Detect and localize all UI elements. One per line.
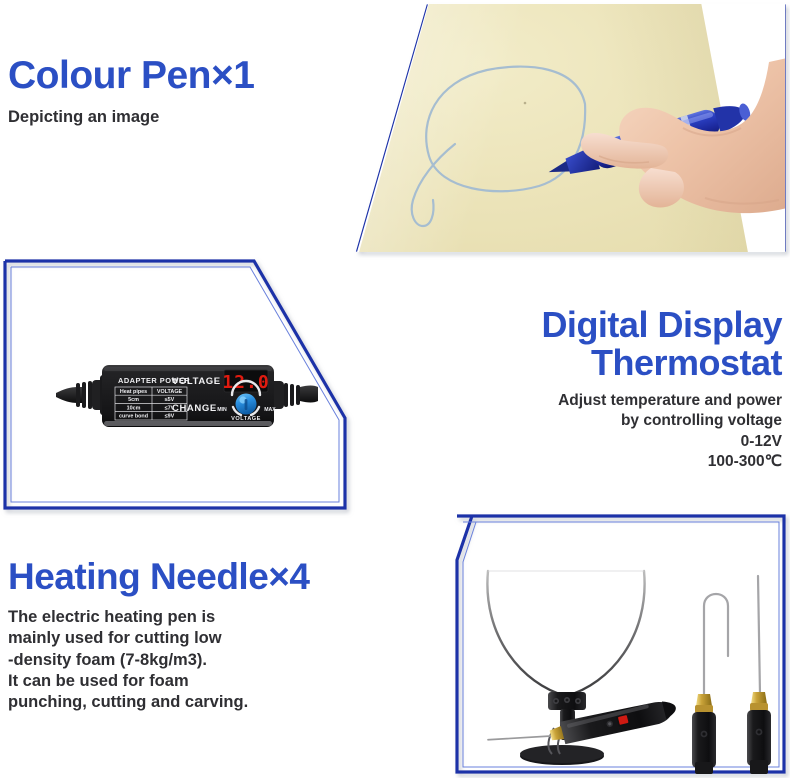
heating-needle-title: Heating Needle×4 [8,558,408,596]
heating-needle-photo [462,516,786,774]
colour-pen-subtitle: Depicting an image [8,107,254,128]
digital-display-title-line2: Thermostat [430,344,782,382]
digital-readout-value: 12.0 [222,372,269,393]
device-change-label: CHANGE [172,403,217,414]
table-cell-r1c1: 5cm [128,397,139,403]
digital-display-desc-1: Adjust temperature and power [430,391,782,411]
knob-min-label: MIN [217,407,227,413]
adapter-power-caption: ADAPTER POWER [118,376,190,385]
right-cable [270,381,318,409]
colour-pen-title: Colour Pen×1 [8,56,254,96]
hand-illustration [555,48,785,248]
straight-needle-attachment [747,576,771,774]
heating-needle-block: Heating Needle×4 The electric heating pe… [8,558,408,714]
digital-display-title-line1: Digital Display [430,306,782,344]
table-cell-r3c2: ≤9V [165,414,175,420]
left-cable [56,380,104,410]
table-col-voltage: VOLTAGE [157,389,183,395]
hook-needle-attachment [692,594,728,774]
colour-pen-block: Colour Pen×1 Depicting an image [8,56,254,128]
digital-display-desc-4: 100-300℃ [430,452,782,472]
knob-max-label: MAX [264,407,276,413]
table-cell-r2c1: 10cm [127,405,141,411]
table-cell-r2c2: ≤7V [165,405,175,411]
digital-display-desc-3: 0-12V [430,432,782,452]
infographic-canvas: Colour Pen×1 Depicting an image [0,0,790,778]
heating-needle-desc: The electric heating pen is mainly used … [8,607,408,714]
table-cell-r1c2: ≤5V [165,397,175,403]
thermostat-device-photo: VOLTAGE 12.0 CHANGE MIN MAX VOLTAGE ADAP… [56,337,318,449]
colour-pen-photo [357,4,785,252]
knob-voltage-label: VOLTAGE [231,416,261,422]
digital-display-desc-2: by controlling voltage [430,411,782,431]
table-cell-r3c1: curve bond [119,414,148,420]
digital-display-block: Digital Display Thermostat Adjust temper… [430,306,782,472]
table-col-heat-pipes: Heat pipes [120,389,147,395]
